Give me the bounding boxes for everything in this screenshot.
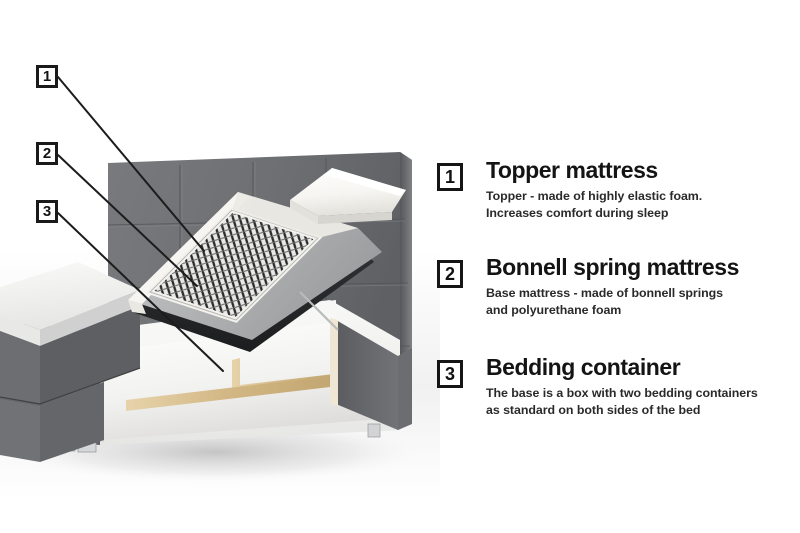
legend-description-line: Increases comfort during sleep [486, 205, 800, 223]
legend-badge-3: 3 [437, 360, 463, 388]
legend-description: Base mattress - made of bonnell springs … [486, 285, 800, 320]
diagram-canvas: 1 2 3 1 Topper mattress Topper - made of… [0, 0, 800, 533]
legend-title: Topper mattress [486, 158, 800, 183]
legend-badge-1: 1 [437, 163, 463, 191]
legend-title: Bedding container [486, 355, 800, 380]
legend-item-bonnell-spring-mattress: 2 Bonnell spring mattress Base mattress … [437, 255, 800, 320]
callout-number-3: 3 [36, 200, 58, 223]
callout-number-1: 1 [36, 65, 58, 88]
legend-description-line: as standard on both sides of the bed [486, 402, 800, 420]
legend-description-line: Base mattress - made of bonnell springs [486, 285, 800, 303]
callout-number-2: 2 [36, 142, 58, 165]
legend-description: The base is a box with two bedding conta… [486, 385, 800, 420]
bed-illustration [0, 0, 440, 500]
legend-description: Topper - made of highly elastic foam. In… [486, 188, 800, 223]
legend-item-bedding-container: 3 Bedding container The base is a box wi… [437, 355, 800, 420]
legend-text-block: Bedding container The base is a box with… [486, 355, 800, 420]
legend-description-line: The base is a box with two bedding conta… [486, 385, 800, 403]
legend-badge-2: 2 [437, 260, 463, 288]
legend-text-block: Bonnell spring mattress Base mattress - … [486, 255, 800, 320]
legend-text-block: Topper mattress Topper - made of highly … [486, 158, 800, 223]
legend-item-topper-mattress: 1 Topper mattress Topper - made of highl… [437, 158, 800, 223]
legend-description-line: Topper - made of highly elastic foam. [486, 188, 800, 206]
legend-title: Bonnell spring mattress [486, 255, 800, 280]
legend-description-line: and polyurethane foam [486, 302, 800, 320]
